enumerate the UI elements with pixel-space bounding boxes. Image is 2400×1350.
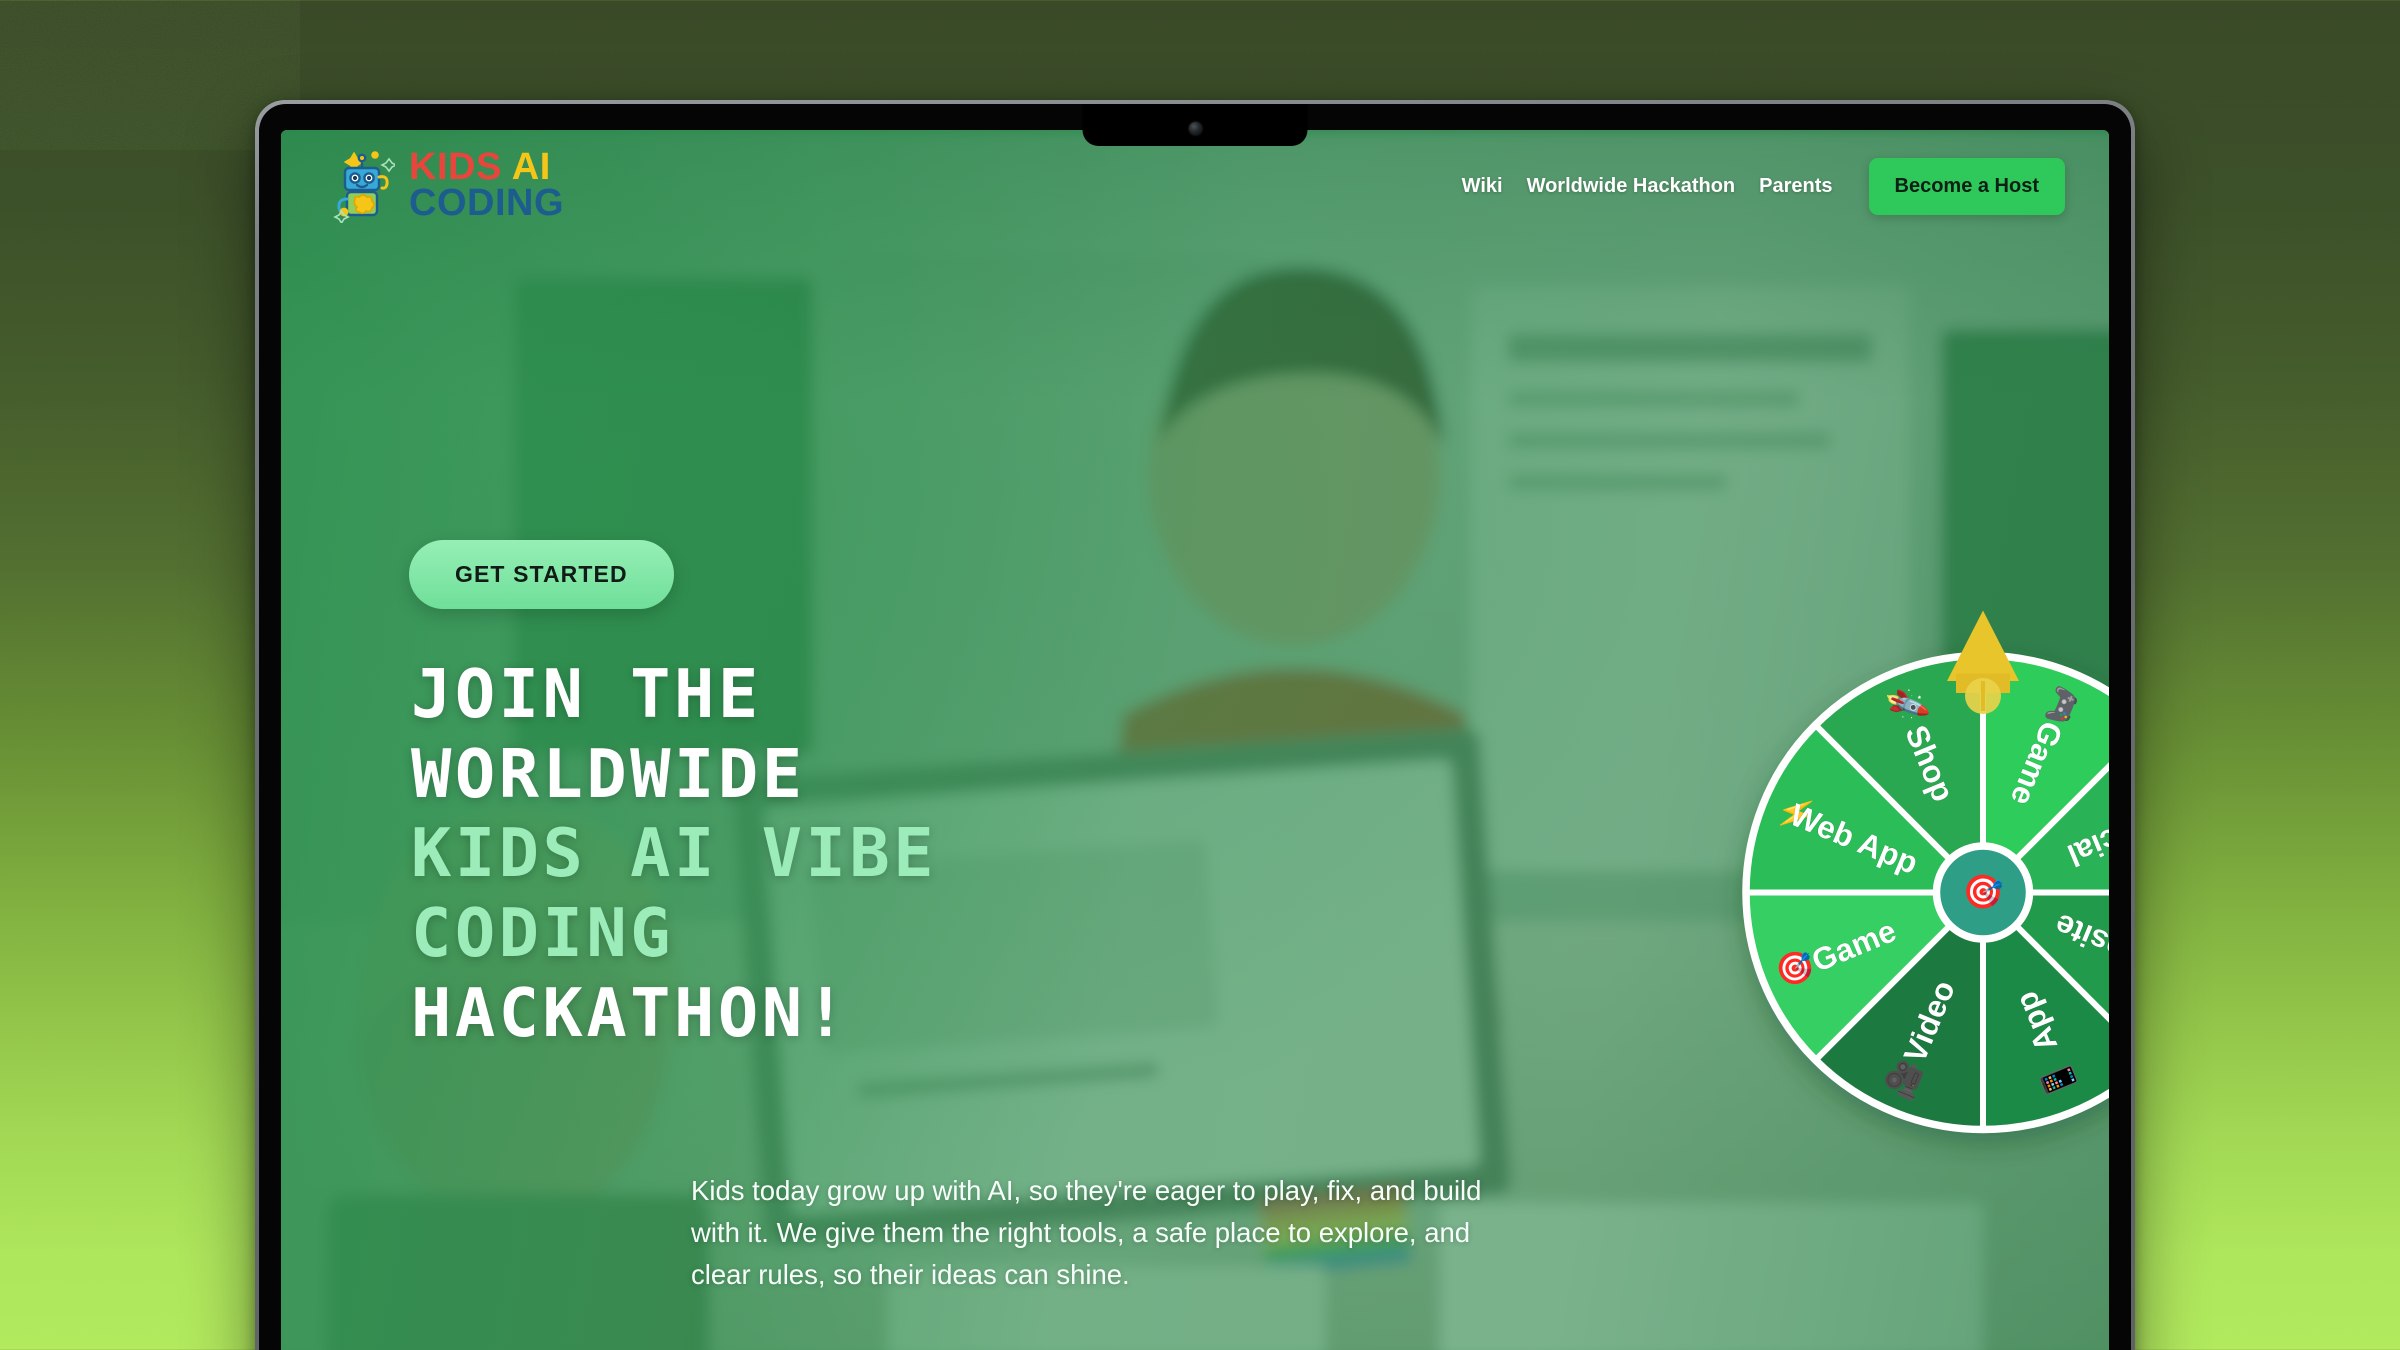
nav-link-wiki[interactable]: Wiki bbox=[1462, 175, 1503, 198]
laptop-notch bbox=[1083, 104, 1308, 146]
hero-paragraph: Kids today grow up with AI, so they're e… bbox=[691, 1170, 1491, 1295]
hub-target-icon: 🎯 bbox=[1962, 873, 2003, 910]
robot-mascot-icon bbox=[331, 149, 395, 223]
headline-line-2: WORLDWIDE bbox=[411, 735, 937, 815]
nav-link-worldwide-hackathon[interactable]: Worldwide Hackathon bbox=[1527, 175, 1736, 198]
headline-line-4: CODING bbox=[411, 894, 937, 974]
site-header: KIDSAI CODING Wiki Worldwide Hackathon P… bbox=[281, 130, 2109, 242]
headline-line-3: KIDS AI VIBE bbox=[411, 814, 937, 894]
prize-wheel[interactable]: 🎮Game📱Social🌐Website📱App🎥Video🎯Game⚡Web … bbox=[1728, 603, 2109, 1143]
laptop-bezel: KIDSAI CODING Wiki Worldwide Hackathon P… bbox=[259, 104, 2131, 1350]
laptop-frame: KIDSAI CODING Wiki Worldwide Hackathon P… bbox=[255, 100, 2135, 1350]
site-logo[interactable]: KIDSAI CODING bbox=[331, 149, 564, 223]
logo-coding-text: CODING bbox=[409, 186, 564, 222]
get-started-button[interactable]: GET STARTED bbox=[409, 540, 674, 609]
nav-link-parents[interactable]: Parents bbox=[1759, 175, 1832, 198]
wheel-hub[interactable]: 🎯 bbox=[1937, 846, 2030, 939]
headline-line-5: HACKATHON! bbox=[411, 974, 937, 1054]
headline-line-1: JOIN THE bbox=[411, 655, 937, 735]
main-navigation: Wiki Worldwide Hackathon Parents Become … bbox=[1462, 158, 2065, 215]
hero-headline: JOIN THE WORLDWIDE KIDS AI VIBE CODING H… bbox=[411, 655, 937, 1054]
become-a-host-button[interactable]: Become a Host bbox=[1869, 158, 2066, 215]
screen-viewport: KIDSAI CODING Wiki Worldwide Hackathon P… bbox=[281, 130, 2109, 1350]
hero-section: GET STARTED JOIN THE WORLDWIDE KIDS AI V… bbox=[281, 130, 2109, 1350]
webcam-icon bbox=[1189, 122, 1202, 135]
